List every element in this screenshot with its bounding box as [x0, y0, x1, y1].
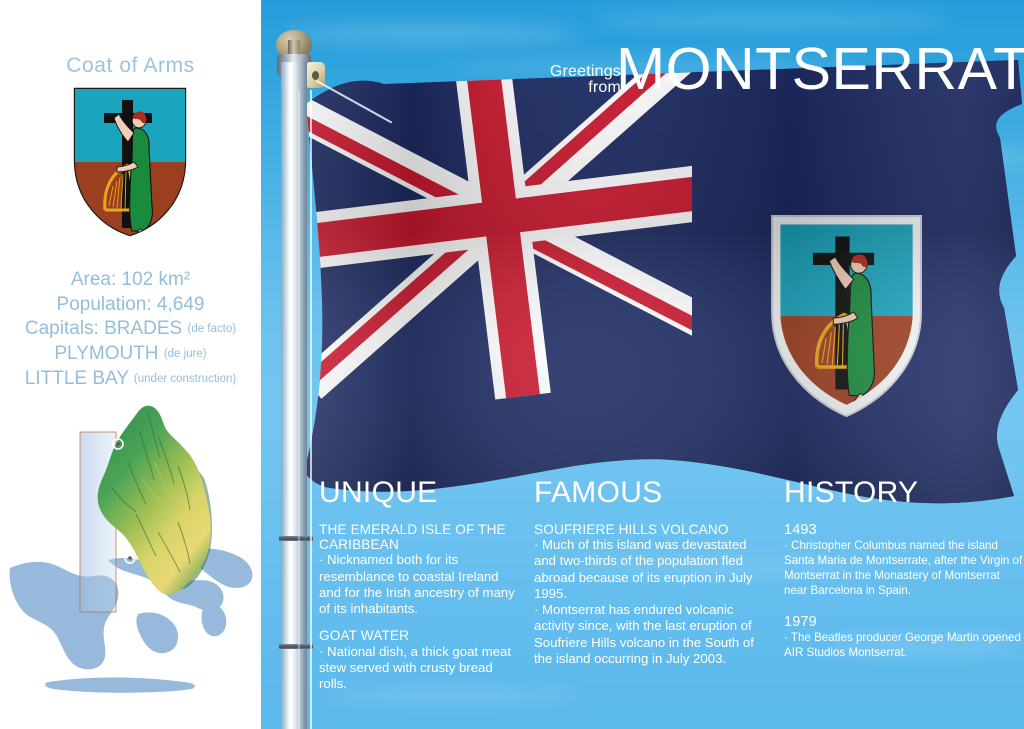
column-unique-heading: UNIQUE [319, 478, 524, 508]
section-body: · The Beatles producer George Martin ope… [784, 631, 1024, 661]
section-title: GOAT WATER [319, 628, 524, 643]
country-facts: Area: 102 km² Population: 4,649 Capitals… [0, 268, 261, 391]
column-famous: FAMOUS SOUFRIERE HILLS VOLCANO · Much of… [524, 478, 756, 729]
column-history-heading: HISTORY [784, 478, 1024, 508]
fact-capital-1-label: Capitals: BRADES [25, 318, 182, 339]
section-soufriere-hills: SOUFRIERE HILLS VOLCANO · Much of this i… [534, 522, 756, 667]
column-unique: UNIQUE THE EMERALD ISLE OF THE CARIBBEAN… [300, 478, 524, 729]
fact-capital-1: Capitals: BRADES (de facto) [0, 317, 261, 342]
flag-tie-rope [316, 80, 392, 123]
location-map [8, 392, 256, 712]
section-body: · National dish, a thick goat meat stew … [319, 644, 524, 693]
section-1979: 1979 · The Beatles producer George Marti… [784, 614, 1024, 661]
fact-capital-1-note: (de facto) [188, 323, 237, 335]
section-title: 1979 [784, 614, 1024, 630]
column-famous-heading: FAMOUS [534, 478, 756, 508]
world-map-icon [10, 549, 253, 693]
fact-capital-3-note: (under construction) [134, 373, 236, 385]
section-title: THE EMERALD ISLE OF THE CARIBBEAN [319, 522, 524, 552]
fact-capital-3: LITTLE BAY (under construction) [0, 367, 261, 392]
coat-of-arms-shield [72, 86, 188, 238]
section-title: 1493 [784, 522, 1024, 538]
fact-area: Area: 102 km² [0, 268, 261, 293]
fact-capital-3-label: LITTLE BAY [25, 368, 129, 389]
postcard: Coat of Arms [0, 0, 1024, 729]
section-body: · Christopher Columbus named the island … [784, 539, 1024, 598]
section-emerald-isle: THE EMERALD ISLE OF THE CARIBBEAN · Nick… [319, 522, 524, 617]
montserrat-flag [300, 60, 1024, 520]
fact-population: Population: 4,649 [0, 293, 261, 318]
section-title: SOUFRIERE HILLS VOLCANO [534, 522, 756, 537]
section-goat-water: GOAT WATER · National dish, a thick goat… [319, 628, 524, 692]
column-history: HISTORY 1493 · Christopher Columbus name… [756, 478, 1024, 729]
coat-of-arms-title: Coat of Arms [0, 54, 261, 78]
fact-capital-2-note: (de jure) [164, 348, 207, 360]
section-body: · Much of this island was devastated and… [534, 537, 756, 667]
info-sidebar: Coat of Arms [0, 0, 261, 729]
fact-capital-2-label: PLYMOUTH [54, 343, 158, 364]
section-1493: 1493 · Christopher Columbus named the is… [784, 522, 1024, 599]
section-body: · Nicknamed both for its resemblance to … [319, 552, 524, 617]
info-columns: UNIQUE THE EMERALD ISLE OF THE CARIBBEAN… [300, 478, 1024, 729]
fact-capital-2: PLYMOUTH (de jure) [0, 342, 261, 367]
